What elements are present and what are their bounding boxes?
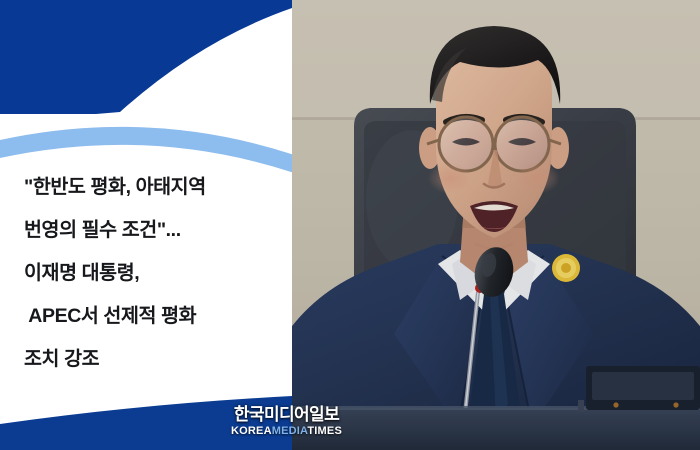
watermark-english: KOREAMEDIATIMES (231, 426, 342, 437)
headline-line-2: 번영의 필수 조건"... (24, 209, 282, 252)
news-photo (292, 0, 700, 450)
watermark-english-part2: MEDIA (272, 425, 308, 437)
photo-illustration (292, 0, 700, 450)
news-card: "한반도 평화, 아태지역 번영의 필수 조건"... 이재명 대통령, APE… (0, 0, 700, 450)
watermark-english-part3: TIMES (307, 425, 342, 437)
headline-line-3: 이재명 대통령, (24, 252, 282, 295)
headline-line-1: "한반도 평화, 아태지역 (24, 166, 282, 209)
watermark-logo: 한국미디어일보 KOREAMEDIATIMES (231, 406, 342, 437)
headline-line-5: 조치 강조 (24, 338, 282, 381)
watermark-korean: 한국미디어일보 (231, 406, 342, 423)
headline: "한반도 평화, 아태지역 번영의 필수 조건"... 이재명 대통령, APE… (24, 166, 282, 381)
photo-vignette (292, 0, 700, 450)
headline-line-4: APEC서 선제적 평화 (24, 295, 282, 338)
watermark-english-part1: KOREA (231, 425, 272, 437)
